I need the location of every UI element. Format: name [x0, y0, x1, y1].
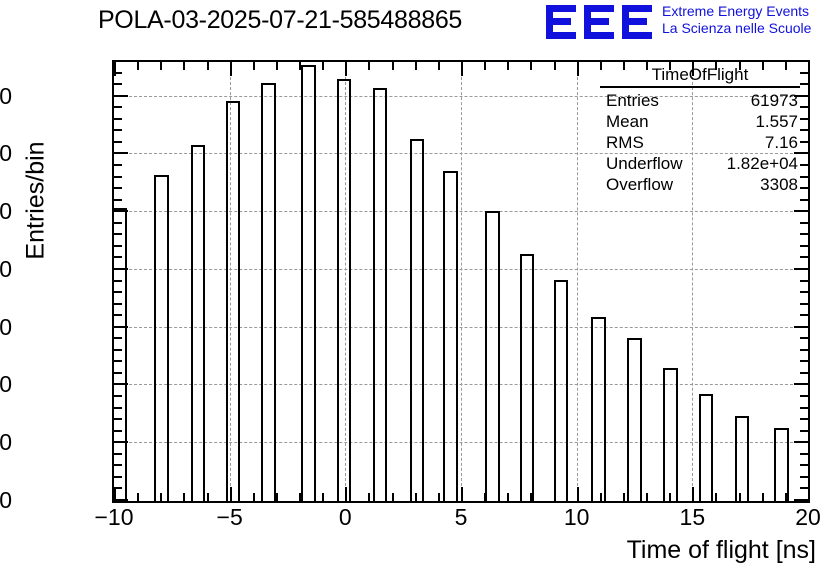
eee-logo-mark-icon: [546, 5, 654, 39]
y-axis-tick: [114, 268, 128, 270]
stats-key: Overflow: [606, 174, 673, 195]
stats-value: 1.557: [755, 111, 798, 132]
stats-value: 3308: [760, 174, 798, 195]
histogram-bar: [774, 428, 789, 501]
x-axis-tick: [253, 493, 255, 501]
x-axis-tick: [461, 487, 463, 501]
y-tick-label: 3000: [0, 142, 12, 165]
y-axis-tick: [114, 187, 122, 189]
x-axis-tick-top: [207, 62, 209, 70]
x-axis-tick-top: [183, 62, 185, 70]
y-axis-tick: [114, 222, 122, 224]
histogram-bar: [443, 171, 458, 501]
stats-row: Underflow1.82e+04: [600, 153, 800, 174]
page-title: POLA-03-2025-07-21-585488865: [0, 6, 560, 35]
y-axis-tick-right: [800, 487, 808, 489]
y-axis-tick-right: [800, 418, 808, 420]
x-axis-tick-top: [160, 62, 162, 70]
y-axis-tick-right: [794, 268, 808, 270]
y-axis-tick: [114, 291, 122, 293]
histogram-bar: [261, 83, 276, 501]
y-axis-tick-right: [800, 395, 808, 397]
y-axis-tick-right: [800, 118, 808, 120]
y-axis-tick: [114, 360, 122, 362]
y-axis-tick-right: [794, 326, 808, 328]
y-axis-tick: [114, 106, 122, 108]
x-tick-label: −10: [74, 506, 154, 529]
x-tick-label: 20: [768, 506, 836, 529]
y-tick-label: 500: [0, 431, 12, 454]
x-axis-tick-top: [484, 62, 486, 70]
stats-row: Entries61973: [600, 90, 800, 111]
y-axis-tick-right: [800, 430, 808, 432]
y-axis-tick: [114, 314, 122, 316]
y-axis-tick: [114, 256, 122, 258]
y-tick-label: 1500: [0, 316, 12, 339]
x-axis-tick: [368, 493, 370, 501]
x-axis-tick: [114, 487, 116, 501]
histogram-bar: [554, 280, 569, 501]
y-axis-tick: [114, 176, 122, 178]
y-axis-tick-right: [800, 464, 808, 466]
x-axis-tick-top: [415, 62, 417, 70]
y-axis-tick-right: [800, 176, 808, 178]
x-axis-tick-top: [554, 62, 556, 70]
x-axis-tick-top: [137, 62, 139, 70]
y-axis-tick: [114, 430, 122, 432]
y-axis-tick-right: [794, 441, 808, 443]
x-axis-tick-top: [253, 62, 255, 70]
x-axis-tick-top: [299, 62, 301, 70]
x-axis-tick: [623, 493, 625, 501]
stats-rows: Entries61973Mean1.557RMS7.16Underflow1.8…: [600, 90, 800, 195]
histogram-bar: [373, 88, 388, 501]
eee-logo: Extreme Energy Events La Scienza nelle S…: [546, 2, 832, 42]
x-axis-tick: [577, 487, 579, 501]
x-axis-tick: [392, 493, 394, 501]
x-axis-tick-top: [507, 62, 509, 70]
histogram-bar: [735, 416, 750, 501]
x-axis-tick-top: [230, 62, 232, 76]
y-axis-tick: [114, 199, 122, 201]
stats-value: 61973: [751, 90, 798, 111]
y-axis-tick-right: [794, 499, 808, 501]
y-tick-label: 2000: [0, 258, 12, 281]
y-axis-tick-right: [800, 337, 808, 339]
root-canvas: POLA-03-2025-07-21-585488865 Extreme Ene…: [0, 0, 836, 572]
stats-box: TimeOfFlight Entries61973Mean1.557RMS7.1…: [600, 64, 800, 195]
x-axis-tick: [785, 493, 787, 501]
eee-logo-line2: La Scienza nelle Scuole: [662, 20, 811, 37]
x-tick-label: 15: [652, 506, 732, 529]
x-axis-tick: [230, 487, 232, 501]
y-axis-tick-right: [800, 280, 808, 282]
y-tick-label: 0: [0, 489, 12, 512]
y-axis-tick: [114, 337, 122, 339]
x-axis-tick: [137, 493, 139, 501]
stats-key: Entries: [606, 90, 659, 111]
x-tick-label: 0: [305, 506, 385, 529]
y-axis-tick-right: [800, 233, 808, 235]
y-axis-tick: [114, 303, 122, 305]
histogram-bar: [154, 175, 169, 501]
y-axis-tick: [114, 280, 122, 282]
y-axis-tick: [114, 118, 122, 120]
stats-key: Underflow: [606, 153, 683, 174]
y-axis-tick-right: [800, 129, 808, 131]
y-axis-tick-right: [800, 245, 808, 247]
y-axis-tick-right: [800, 199, 808, 201]
gridline-vertical: [577, 62, 578, 501]
histogram-bar: [410, 139, 425, 501]
y-axis-tick: [114, 164, 122, 166]
histogram-bar: [627, 338, 642, 501]
y-axis-tick: [114, 441, 128, 443]
x-axis-tick-top: [345, 62, 347, 76]
y-axis-tick-right: [800, 72, 808, 74]
y-axis-tick: [114, 372, 122, 374]
stats-key: Mean: [606, 111, 649, 132]
gridline-vertical: [461, 62, 462, 501]
x-axis-tick: [484, 493, 486, 501]
y-axis-tick-right: [800, 349, 808, 351]
x-tick-label: −5: [190, 506, 270, 529]
x-axis-tick: [692, 487, 694, 501]
x-axis-tick: [530, 493, 532, 501]
histogram-bar: [226, 101, 241, 501]
y-axis-tick: [114, 152, 128, 154]
y-axis-tick-right: [800, 407, 808, 409]
y-axis-tick-right: [800, 453, 808, 455]
y-axis-tick: [114, 141, 122, 143]
y-axis-tick: [114, 383, 128, 385]
y-axis-tick-right: [800, 83, 808, 85]
x-axis-tick-top: [368, 62, 370, 70]
x-axis-tick-top: [114, 62, 116, 76]
x-axis-tick: [183, 493, 185, 501]
y-axis-tick: [114, 210, 128, 212]
y-axis-tick-right: [800, 372, 808, 374]
y-axis-tick: [114, 326, 128, 328]
stats-row: Mean1.557: [600, 111, 800, 132]
x-axis-tick: [739, 493, 741, 501]
histogram-bar: [663, 368, 678, 501]
y-axis-tick: [114, 95, 128, 97]
x-axis-tick: [299, 493, 301, 501]
x-axis-tick: [207, 493, 209, 501]
y-axis-tick: [114, 453, 122, 455]
histogram-bar: [485, 211, 500, 501]
y-axis-tick: [114, 418, 122, 420]
stats-divider: [600, 86, 800, 88]
x-axis-tick: [276, 493, 278, 501]
x-axis-tick: [600, 493, 602, 501]
x-axis-tick: [415, 493, 417, 501]
x-axis-tick-top: [577, 62, 579, 76]
y-axis-tick: [114, 349, 122, 351]
x-axis-tick-top: [461, 62, 463, 76]
histogram-bar: [337, 79, 352, 501]
y-axis-tick-right: [800, 256, 808, 258]
y-axis-title: Entries/bin: [22, 71, 51, 331]
stats-value: 1.82e+04: [727, 153, 798, 174]
eee-logo-line1: Extreme Energy Events: [662, 3, 811, 20]
histogram-bar: [591, 317, 606, 501]
x-axis-title: Time of flight [ns]: [516, 536, 816, 565]
y-axis-tick-right: [800, 187, 808, 189]
y-axis-tick-right: [800, 106, 808, 108]
y-axis-tick: [114, 464, 122, 466]
x-axis-tick: [438, 493, 440, 501]
x-axis-tick-top: [392, 62, 394, 70]
y-axis-tick-right: [800, 476, 808, 478]
stats-row: RMS7.16: [600, 132, 800, 153]
x-axis-tick: [160, 493, 162, 501]
y-axis-tick: [114, 476, 122, 478]
x-tick-label: 10: [537, 506, 617, 529]
x-axis-tick-top: [530, 62, 532, 70]
x-axis-tick-top: [438, 62, 440, 70]
y-tick-label: 3500: [0, 85, 12, 108]
y-axis-tick-right: [794, 383, 808, 385]
stats-title: TimeOfFlight: [600, 64, 800, 86]
x-tick-label: 5: [421, 506, 501, 529]
stats-value: 7.16: [765, 132, 798, 153]
y-axis-tick-right: [800, 164, 808, 166]
y-axis-tick: [114, 407, 122, 409]
y-axis-tick-right: [800, 360, 808, 362]
histogram-bar: [520, 254, 535, 501]
x-axis-tick-top: [322, 62, 324, 70]
x-axis-tick: [507, 493, 509, 501]
x-axis-tick: [646, 493, 648, 501]
x-axis-tick: [715, 493, 717, 501]
histogram-bar: [114, 208, 127, 501]
histogram-bar: [699, 394, 714, 501]
y-axis-tick: [114, 129, 122, 131]
x-axis-tick-top: [276, 62, 278, 70]
stats-row: Overflow3308: [600, 174, 800, 195]
y-axis-tick-right: [800, 314, 808, 316]
y-axis-tick-right: [800, 141, 808, 143]
x-axis-tick: [669, 493, 671, 501]
x-axis-tick: [345, 487, 347, 501]
y-axis-tick: [114, 499, 128, 501]
y-tick-label: 1000: [0, 373, 12, 396]
y-axis-tick: [114, 83, 122, 85]
y-axis-tick-right: [800, 222, 808, 224]
y-tick-label: 2500: [0, 200, 12, 223]
x-axis-tick: [322, 493, 324, 501]
histogram-bar: [301, 65, 316, 501]
stats-key: RMS: [606, 132, 644, 153]
y-axis-tick: [114, 233, 122, 235]
y-axis-tick-right: [800, 303, 808, 305]
x-axis-tick: [554, 493, 556, 501]
histogram-bar: [191, 145, 206, 501]
y-axis-tick-right: [800, 291, 808, 293]
y-axis-tick: [114, 245, 122, 247]
y-axis-tick-right: [794, 210, 808, 212]
y-axis-tick: [114, 395, 122, 397]
x-axis-tick: [762, 493, 764, 501]
